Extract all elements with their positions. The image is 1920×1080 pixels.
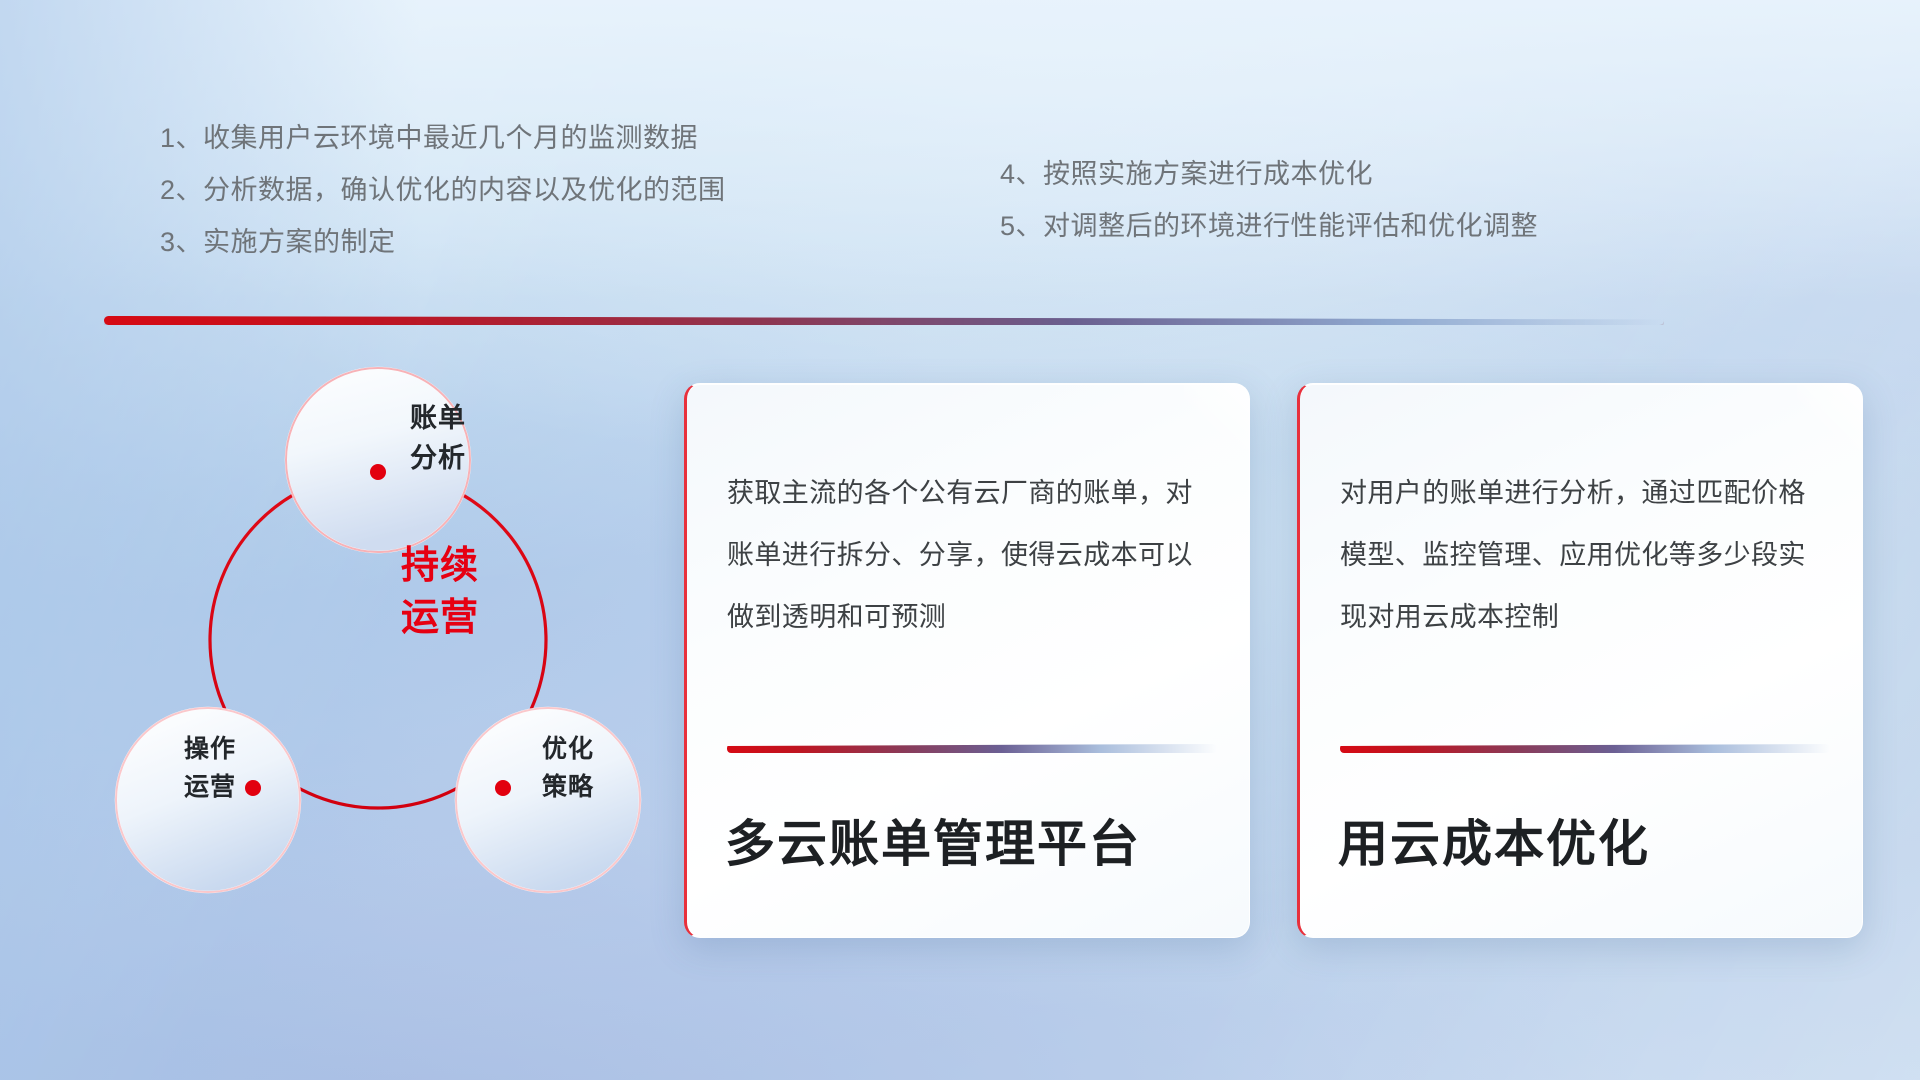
venn-label-bill-analysis: 账单 分析	[358, 398, 518, 478]
card-body-text: 对用户的账单进行分析，通过匹配价格模型、监控管理、应用优化等多少段实现对用云成本…	[1340, 462, 1828, 648]
card-corner-highlight	[1797, 383, 1863, 449]
steps-right-column: 4、按照实施方案进行成本优化 5、对调整后的环境进行性能评估和优化调整	[1000, 148, 1538, 252]
venn-center-line2: 运营	[350, 592, 530, 644]
step-item-2: 2、分析数据，确认优化的内容以及优化的范围	[160, 164, 726, 216]
step-item-4: 4、按照实施方案进行成本优化	[1000, 148, 1538, 200]
card-multi-cloud-billing[interactable]: 获取主流的各个公有云厂商的账单，对账单进行拆分、分享，使得云成本可以做到透明和可…	[684, 383, 1250, 938]
card-title: 多云账单管理平台	[725, 804, 1229, 876]
step-item-3: 3、实施方案的制定	[160, 216, 726, 268]
card-cloud-cost-optimization[interactable]: 对用户的账单进行分析，通过匹配价格模型、监控管理、应用优化等多少段实现对用云成本…	[1297, 383, 1863, 938]
venn-center-line1: 持续	[350, 540, 530, 592]
card-accent-rule	[727, 744, 1217, 753]
venn-label-line1: 账单	[358, 398, 518, 438]
venn-label-line1: 优化	[488, 730, 648, 768]
venn-label-line1: 操作	[130, 730, 290, 768]
venn-label-ops-operation: 操作 运营	[130, 730, 290, 806]
venn-label-line2: 运营	[130, 768, 290, 806]
venn-label-optimize-policy: 优化 策略	[488, 730, 648, 806]
step-item-5: 5、对调整后的环境进行性能评估和优化调整	[1000, 200, 1538, 252]
card-corner-highlight	[1184, 383, 1250, 449]
venn-diagram: 账单 分析 操作 运营 优化 策略 持续 运营	[100, 350, 660, 950]
venn-label-line2: 分析	[358, 438, 518, 478]
card-accent-rule	[1340, 744, 1830, 753]
steps-left-column: 1、收集用户云环境中最近几个月的监测数据 2、分析数据，确认优化的内容以及优化的…	[160, 112, 726, 268]
venn-center-label: 持续 运营	[350, 540, 530, 644]
venn-label-line2: 策略	[488, 768, 648, 806]
card-title: 用云成本优化	[1338, 804, 1842, 876]
step-item-1: 1、收集用户云环境中最近几个月的监测数据	[160, 112, 726, 164]
card-body-text: 获取主流的各个公有云厂商的账单，对账单进行拆分、分享，使得云成本可以做到透明和可…	[727, 462, 1215, 648]
